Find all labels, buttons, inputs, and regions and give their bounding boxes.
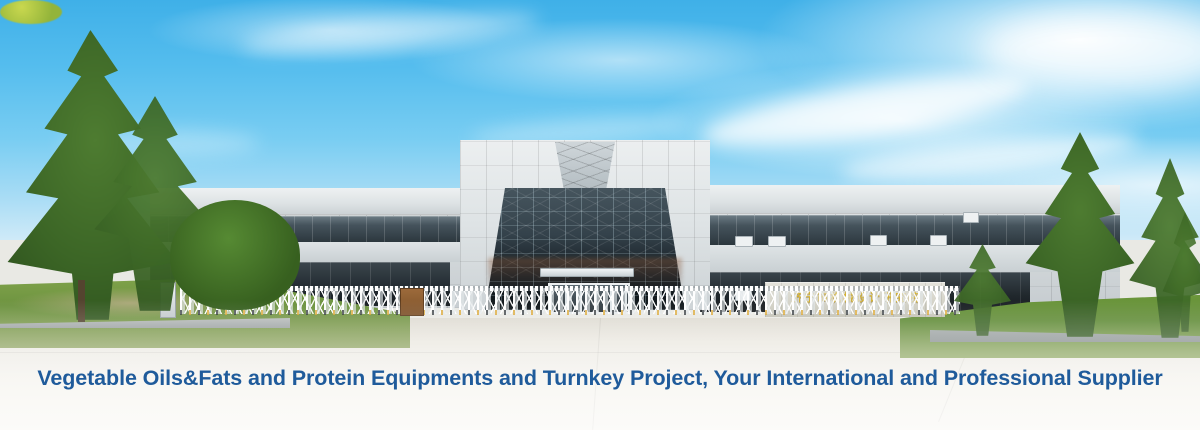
- entrance-canopy: [540, 268, 634, 277]
- ac-unit-icon: [930, 235, 947, 246]
- tree-trunk: [78, 280, 85, 322]
- ac-unit-icon: [768, 236, 786, 247]
- ac-unit-icon: [870, 235, 887, 246]
- retractable-gate-top-rail: [180, 286, 960, 291]
- banner-tagline: Vegetable Oils&Fats and Protein Equipmen…: [0, 366, 1200, 391]
- tree-left-shrub: [170, 200, 300, 310]
- ac-unit-icon: [963, 212, 979, 223]
- shrub-right: [0, 0, 62, 24]
- ac-unit-icon: [735, 236, 753, 247]
- guard-kiosk: [400, 288, 424, 316]
- company-hero-banner: 济宁市机械设计研究院 Vegetable Oils&Fats and Prote…: [0, 0, 1200, 430]
- retractable-gate-wheels: [180, 310, 960, 315]
